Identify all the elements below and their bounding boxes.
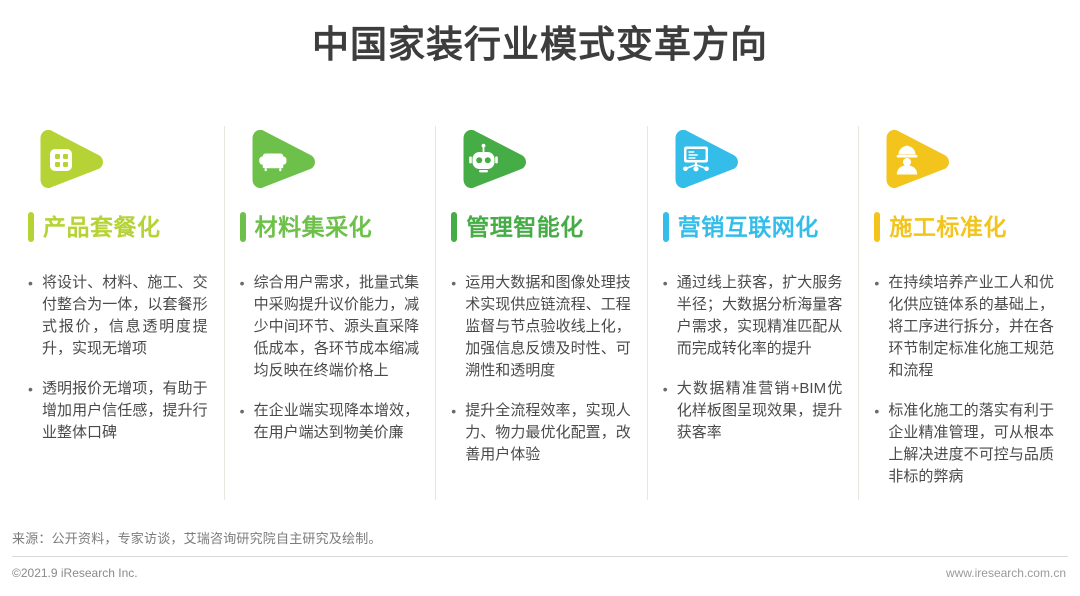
bullet-dot-icon: • (874, 272, 888, 294)
bullet-list: • 运用大数据和图像处理技术实现供应链流程、工程监督与节点验收线上化，加强信息反… (451, 272, 633, 466)
heading-accent-bar (451, 212, 457, 242)
bullet-text: 透明报价无增项，有助于增加用户信任感，提升行业整体口碑 (42, 378, 208, 444)
construction-worker-icon (876, 126, 954, 192)
bullet-dot-icon: • (240, 400, 254, 422)
bullet-list: • 综合用户需求，批量式集中采购提升议价能力，减少中间环节、源头直采降低成本，各… (240, 272, 422, 444)
column-standardized-construction: 施工标准化 • 在持续培养产业工人和优化供应链体系的基础上，将工序进行拆分，并在… (858, 126, 1070, 500)
heading-accent-bar (240, 212, 246, 242)
heading-row: 产品套餐化 (28, 210, 210, 244)
bullet-list: • 在持续培养产业工人和优化供应链体系的基础上，将工序进行拆分，并在各环节制定标… (874, 272, 1056, 488)
bullet-dot-icon: • (874, 400, 888, 422)
sofa-icon (242, 126, 320, 192)
page-title: 中国家装行业模式变革方向 (0, 22, 1080, 68)
heading-row: 施工标准化 (874, 210, 1056, 244)
columns-container: 产品套餐化 • 将设计、材料、施工、交付整合为一体，以套餐形式报价，信息透明度提… (12, 126, 1070, 500)
list-item: • 标准化施工的落实有利于企业精准管理，可从根本上解决进度不可控与品质非标的弊病 (874, 400, 1054, 488)
bullet-dot-icon: • (28, 378, 42, 400)
heading-accent-bar (28, 212, 34, 242)
footer-divider (12, 556, 1068, 557)
heading-row: 管理智能化 (451, 210, 633, 244)
bullet-dot-icon: • (451, 400, 465, 422)
bullet-dot-icon: • (28, 272, 42, 294)
robot-icon (453, 126, 531, 192)
website-url: www.iresearch.com.cn (946, 566, 1066, 580)
column-heading: 管理智能化 (466, 212, 584, 242)
list-item: • 透明报价无增项，有助于增加用户信任感，提升行业整体口碑 (28, 378, 208, 444)
source-note: 来源：公开资料，专家访谈，艾瑞咨询研究院自主研究及绘制。 (12, 528, 382, 547)
network-screen-icon (665, 126, 743, 192)
list-item: • 运用大数据和图像处理技术实现供应链流程、工程监督与节点验收线上化，加强信息反… (451, 272, 631, 382)
slide-root: 中国家装行业模式变革方向 产品套餐化 • (0, 0, 1080, 596)
bullet-text: 在持续培养产业工人和优化供应链体系的基础上，将工序进行拆分，并在各环节制定标准化… (888, 272, 1054, 382)
heading-row: 材料集采化 (240, 210, 422, 244)
copyright-text: ©2021.9 iResearch Inc. (12, 566, 138, 580)
bullet-list: • 将设计、材料、施工、交付整合为一体，以套餐形式报价，信息透明度提升，实现无增… (28, 272, 210, 444)
list-item: • 提升全流程效率，实现人力、物力最优化配置，改善用户体验 (451, 400, 631, 466)
column-internet-marketing: 营销互联网化 • 通过线上获客，扩大服务半径；大数据分析海量客户需求，实现精准匹… (647, 126, 859, 500)
bullet-text: 提升全流程效率，实现人力、物力最优化配置，改善用户体验 (465, 400, 631, 466)
column-heading: 材料集采化 (255, 212, 373, 242)
list-item: • 在企业端实现降本增效，在用户端达到物美价廉 (240, 400, 420, 444)
bullet-dot-icon: • (451, 272, 465, 294)
bullet-text: 运用大数据和图像处理技术实现供应链流程、工程监督与节点验收线上化，加强信息反馈及… (465, 272, 631, 382)
bullet-text: 通过线上获客，扩大服务半径；大数据分析海量客户需求，实现精准匹配从而完成转化率的… (677, 272, 843, 360)
bullet-text: 将设计、材料、施工、交付整合为一体，以套餐形式报价，信息透明度提升，实现无增项 (42, 272, 208, 360)
bullet-text: 在企业端实现降本增效，在用户端达到物美价廉 (254, 400, 420, 444)
column-product-package: 产品套餐化 • 将设计、材料、施工、交付整合为一体，以套餐形式报价，信息透明度提… (12, 126, 224, 500)
bullet-dot-icon: • (240, 272, 254, 294)
column-heading: 营销互联网化 (678, 212, 819, 242)
heading-accent-bar (663, 212, 669, 242)
bullet-text: 标准化施工的落实有利于企业精准管理，可从根本上解决进度不可控与品质非标的弊病 (888, 400, 1054, 488)
list-item: • 在持续培养产业工人和优化供应链体系的基础上，将工序进行拆分，并在各环节制定标… (874, 272, 1054, 382)
list-item: • 综合用户需求，批量式集中采购提升议价能力，减少中间环节、源头直采降低成本，各… (240, 272, 420, 382)
column-heading: 产品套餐化 (43, 212, 161, 242)
column-heading: 施工标准化 (889, 212, 1007, 242)
bullet-text: 综合用户需求，批量式集中采购提升议价能力，减少中间环节、源头直采降低成本，各环节… (254, 272, 420, 382)
package-grid-icon (30, 126, 108, 192)
title-container: 中国家装行业模式变革方向 (0, 22, 1080, 68)
list-item: • 通过线上获客，扩大服务半径；大数据分析海量客户需求，实现精准匹配从而完成转化… (663, 272, 843, 360)
list-item: • 大数据精准营销+BIM优化样板图呈现效果，提升获客率 (663, 378, 843, 444)
bullet-dot-icon: • (663, 378, 677, 400)
column-material-procurement: 材料集采化 • 综合用户需求，批量式集中采购提升议价能力，减少中间环节、源头直采… (224, 126, 436, 500)
bullet-dot-icon: • (663, 272, 677, 294)
bullet-text: 大数据精准营销+BIM优化样板图呈现效果，提升获客率 (677, 378, 843, 444)
heading-accent-bar (874, 212, 880, 242)
list-item: • 将设计、材料、施工、交付整合为一体，以套餐形式报价，信息透明度提升，实现无增… (28, 272, 208, 360)
heading-row: 营销互联网化 (663, 210, 845, 244)
column-intelligent-management: 管理智能化 • 运用大数据和图像处理技术实现供应链流程、工程监督与节点验收线上化… (435, 126, 647, 500)
bullet-list: • 通过线上获客，扩大服务半径；大数据分析海量客户需求，实现精准匹配从而完成转化… (663, 272, 845, 444)
